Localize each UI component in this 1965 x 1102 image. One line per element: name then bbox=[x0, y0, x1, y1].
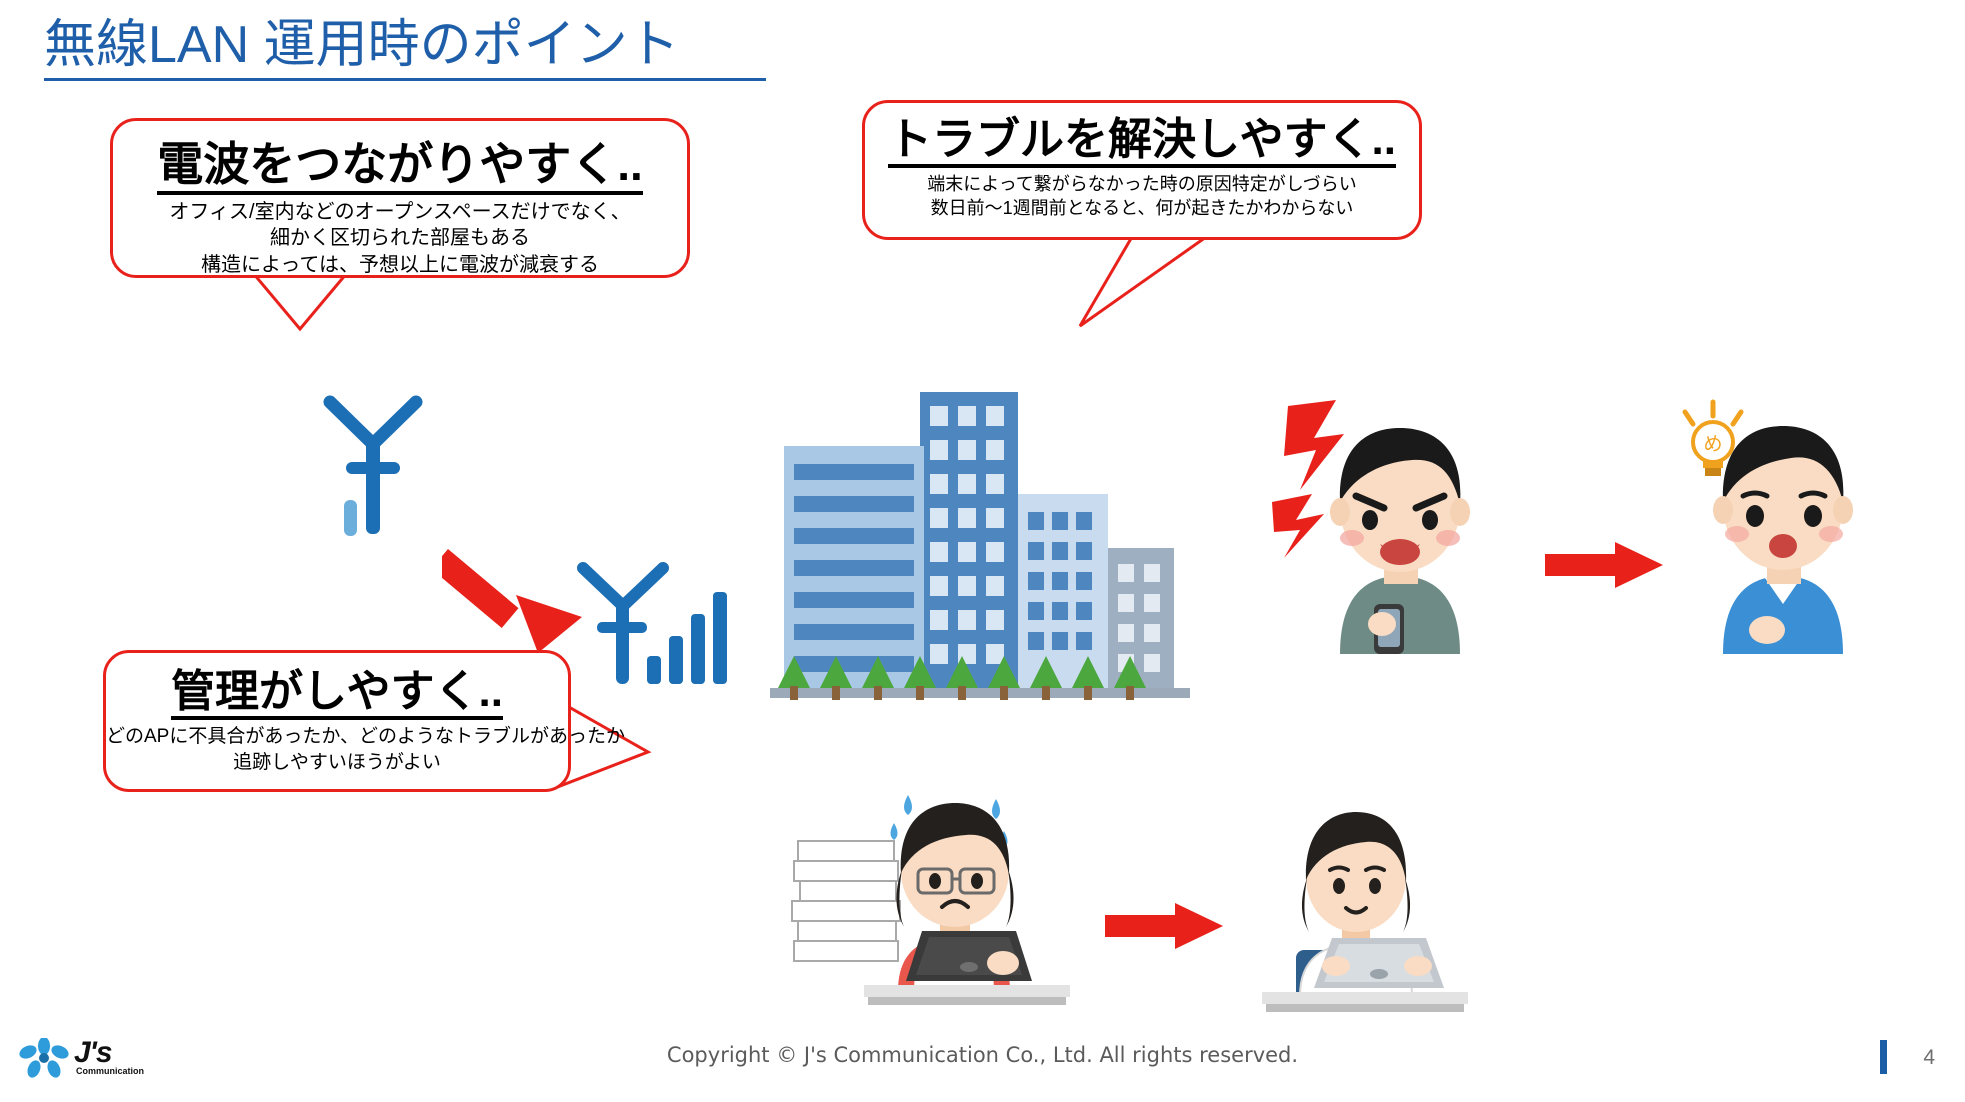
callout-radio[interactable]: 電波をつながりやすく.. オフィス/室内などのオープンスペースだけでなく、 細か… bbox=[110, 118, 690, 278]
callout-radio-title: 電波をつながりやすく.. bbox=[157, 139, 643, 195]
wifi-antenna-signal-bars-icon bbox=[575, 560, 735, 690]
red-right-arrow-icon-manage bbox=[1105, 902, 1225, 950]
title-underline bbox=[44, 78, 766, 81]
calm-woman-with-laptop-illustration bbox=[1240, 800, 1475, 1015]
callout-radio-sub-line-2: 細かく区切られた部屋もある bbox=[113, 225, 687, 252]
callout-manage-title: 管理がしやすく.. bbox=[171, 667, 503, 720]
callout-manage-sub-line-1: どのAPに不具合があったか、どのようなトラブルがあったか bbox=[106, 724, 568, 749]
callout-trouble-title: トラブルを解決しやすく.. bbox=[888, 115, 1396, 168]
relieved-man-with-idea-illustration: め bbox=[1655, 398, 1905, 658]
wifi-antenna-icon bbox=[318, 392, 428, 542]
callout-manage[interactable]: 管理がしやすく.. どのAPに不具合があったか、どのようなトラブルがあったか 追… bbox=[103, 650, 571, 792]
callout-radio-sub-line-3: 構造によっては、予想以上に電波が減衰する bbox=[113, 252, 687, 279]
callout-trouble[interactable]: トラブルを解決しやすく.. 端末によって繋がらなかった時の原因特定がしづらい 数… bbox=[862, 100, 1422, 240]
callout-trouble-subtitle: 端末によって繋がらなかった時の原因特定がしづらい 数日前～1週間前となると、何が… bbox=[865, 172, 1419, 220]
stressed-woman-with-paperwork-and-laptop-illustration bbox=[790, 785, 1070, 1015]
callout-manage-sub-line-2: 追跡しやすいほうがよい bbox=[106, 750, 568, 775]
copyright-text: Copyright © J's Communication Co., Ltd. … bbox=[0, 1043, 1965, 1067]
page-number-bar bbox=[1880, 1040, 1887, 1074]
svg-text:め: め bbox=[1703, 433, 1722, 455]
callout-radio-sub-line-1: オフィス/室内などのオープンスペースだけでなく、 bbox=[113, 199, 687, 226]
callout-radio-subtitle: オフィス/室内などのオープンスペースだけでなく、 細かく区切られた部屋もある 構… bbox=[113, 199, 687, 279]
red-diagonal-arrow-icon bbox=[442, 535, 587, 655]
callout-trouble-tail bbox=[1020, 228, 1240, 338]
brand-subtitle: Communication bbox=[76, 1066, 144, 1076]
frustrated-man-with-smartphone-illustration bbox=[1270, 398, 1520, 658]
callout-trouble-sub-line-1: 端末によって繋がらなかった時の原因特定がしづらい bbox=[865, 172, 1419, 196]
page-number: 4 bbox=[1923, 1046, 1935, 1070]
slide-canvas: 無線LAN 運用時のポイント 電波をつながりやすく.. オフィス/室内などのオー… bbox=[0, 0, 1965, 1102]
callout-trouble-sub-line-2: 数日前～1週間前となると、何が起きたかわからない bbox=[865, 196, 1419, 220]
office-buildings-illustration bbox=[770, 388, 1190, 728]
red-right-arrow-icon-trouble bbox=[1545, 540, 1665, 590]
page-title: 無線LAN 運用時のポイント bbox=[44, 16, 766, 81]
callout-manage-subtitle: どのAPに不具合があったか、どのようなトラブルがあったか 追跡しやすいほうがよい bbox=[106, 724, 568, 775]
page-title-text: 無線LAN 運用時のポイント bbox=[44, 16, 766, 76]
